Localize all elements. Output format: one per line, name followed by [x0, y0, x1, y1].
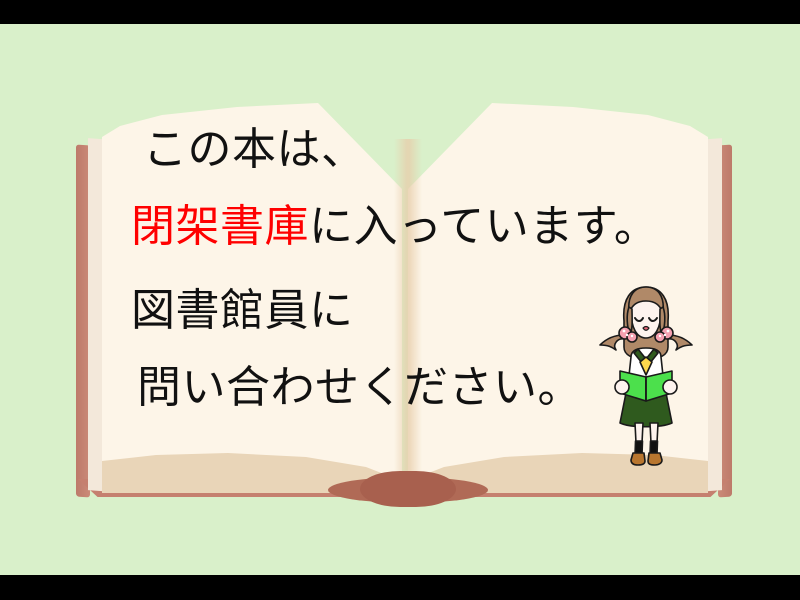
leg-right	[650, 423, 658, 443]
notice-line-2-post: に入っています。	[309, 201, 658, 252]
notice-line-4: 問い合わせください。	[137, 366, 582, 410]
letterbox-bar-bottom	[0, 575, 800, 600]
notice-line-2-highlight: 閉架書庫	[131, 201, 309, 252]
slide-body: この本は、 閉架書庫に入っています。 図書館員に 問い合わせください。	[0, 24, 800, 575]
mouth	[643, 327, 649, 331]
girl-reading-illustration	[598, 283, 694, 468]
notice-line-1: この本は、	[143, 128, 366, 172]
notice-line-3-pre: 図書館員に	[131, 285, 354, 336]
notice-line-1-pre: この本は、	[143, 124, 366, 175]
slide-canvas: この本は、 閉架書庫に入っています。 図書館員に 問い合わせください。	[0, 0, 800, 600]
leg-left	[635, 423, 643, 443]
notice-line-4-pre: 問い合わせください。	[137, 362, 582, 413]
notice-line-2: 閉架書庫に入っています。	[131, 205, 658, 249]
letterbox-bar-top	[0, 0, 800, 24]
shoe-left	[631, 453, 645, 465]
hand-left	[615, 380, 629, 394]
notice-line-3: 図書館員に	[131, 289, 354, 333]
shoe-right	[648, 453, 662, 465]
hand-right	[663, 380, 677, 394]
